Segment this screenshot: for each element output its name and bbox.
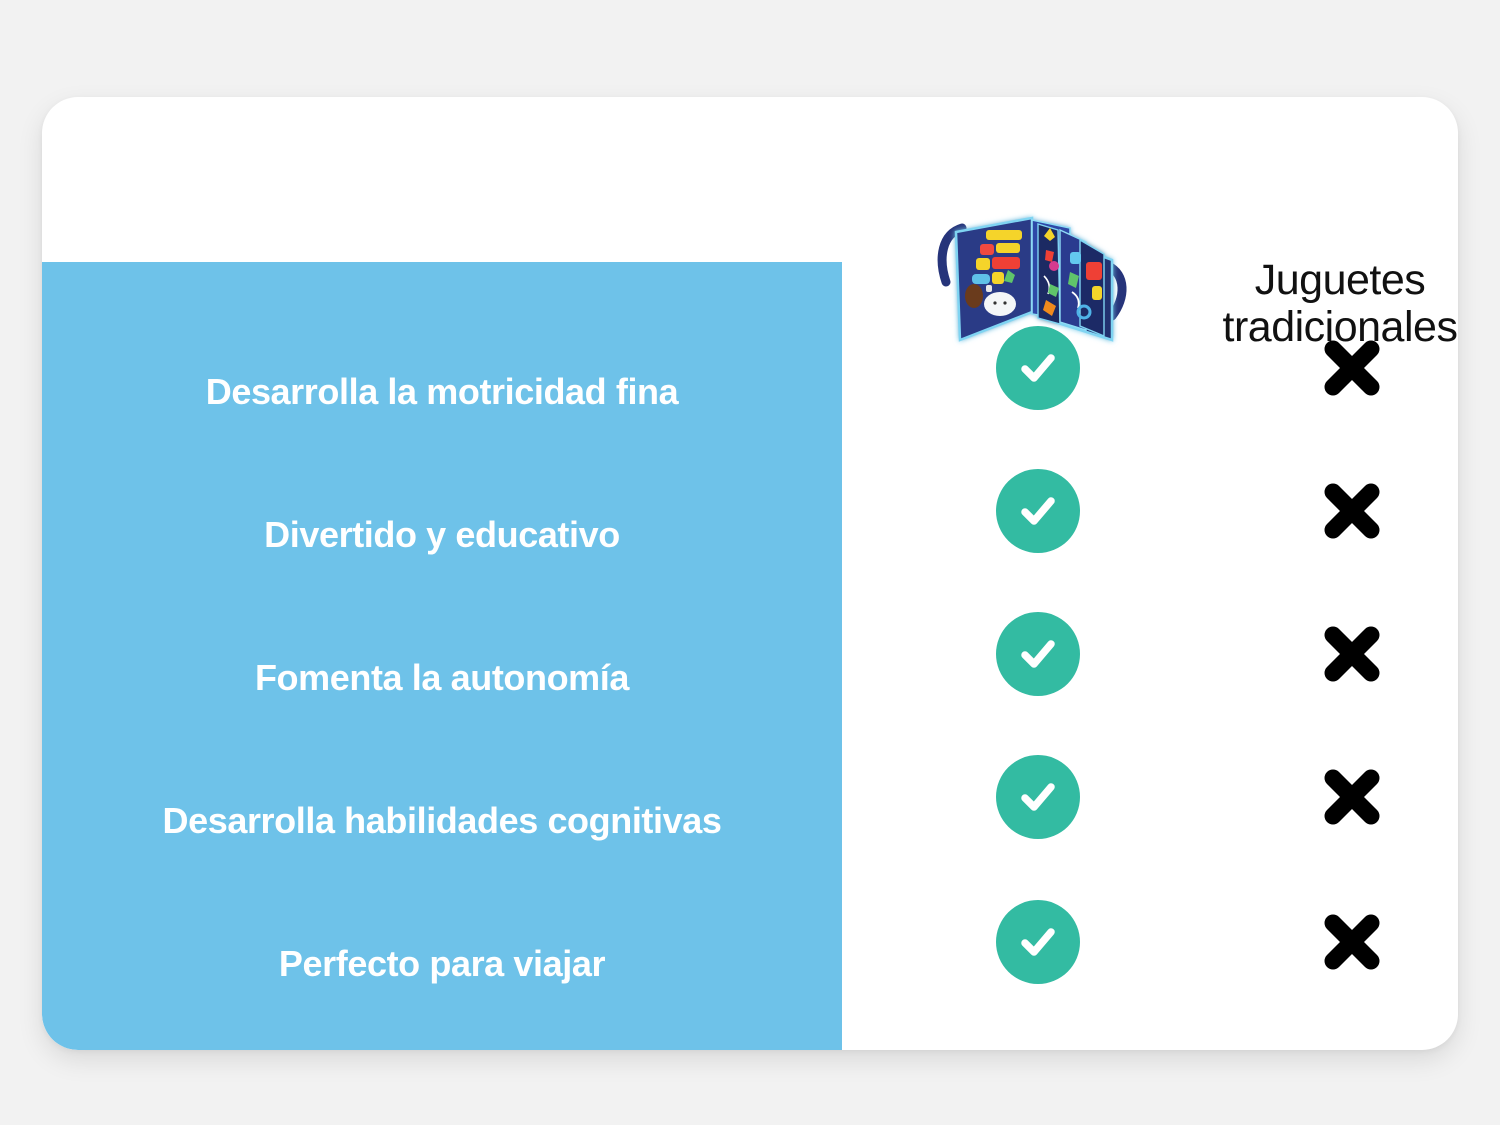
cross-icon: [1320, 765, 1384, 829]
column-title-line-1: Juguetes: [1160, 257, 1458, 304]
check-icon: [996, 900, 1080, 984]
feature-label: Fomenta la autonomía: [255, 658, 629, 698]
traditional-mark-cell: [1266, 467, 1438, 555]
feature-label: Desarrolla la motricidad fina: [206, 372, 679, 412]
cross-icon: [1320, 479, 1384, 543]
cross-icon: [1320, 622, 1384, 686]
feature-label: Divertido y educativo: [264, 515, 620, 555]
check-icon: [996, 612, 1080, 696]
product-mark-cell: [952, 610, 1124, 698]
check-icon: [996, 469, 1080, 553]
check-icon: [996, 326, 1080, 410]
feature-list-panel: Desarrolla la motricidad fina Divertido …: [42, 262, 842, 1050]
comparison-card: Desarrolla la motricidad fina Divertido …: [42, 97, 1458, 1050]
traditional-mark-cell: [1266, 610, 1438, 698]
feature-label: Desarrolla habilidades cognitivas: [162, 801, 721, 841]
product-mark-cell: [952, 898, 1124, 986]
cross-icon: [1320, 336, 1384, 400]
product-mark-cell: [952, 324, 1124, 412]
feature-row: Desarrolla habilidades cognitivas: [42, 801, 842, 841]
feature-row: Divertido y educativo: [42, 515, 842, 555]
feature-row: Desarrolla la motricidad fina: [42, 372, 842, 412]
feature-label: Perfecto para viajar: [279, 944, 605, 984]
traditional-mark-cell: [1266, 324, 1438, 412]
traditional-mark-cell: [1266, 898, 1438, 986]
traditional-mark-cell: [1266, 753, 1438, 841]
feature-row: Fomenta la autonomía: [42, 658, 842, 698]
product-mark-cell: [952, 753, 1124, 841]
cross-icon: [1320, 910, 1384, 974]
product-mark-cell: [952, 467, 1124, 555]
feature-row: Perfecto para viajar: [42, 944, 842, 984]
check-icon: [996, 755, 1080, 839]
